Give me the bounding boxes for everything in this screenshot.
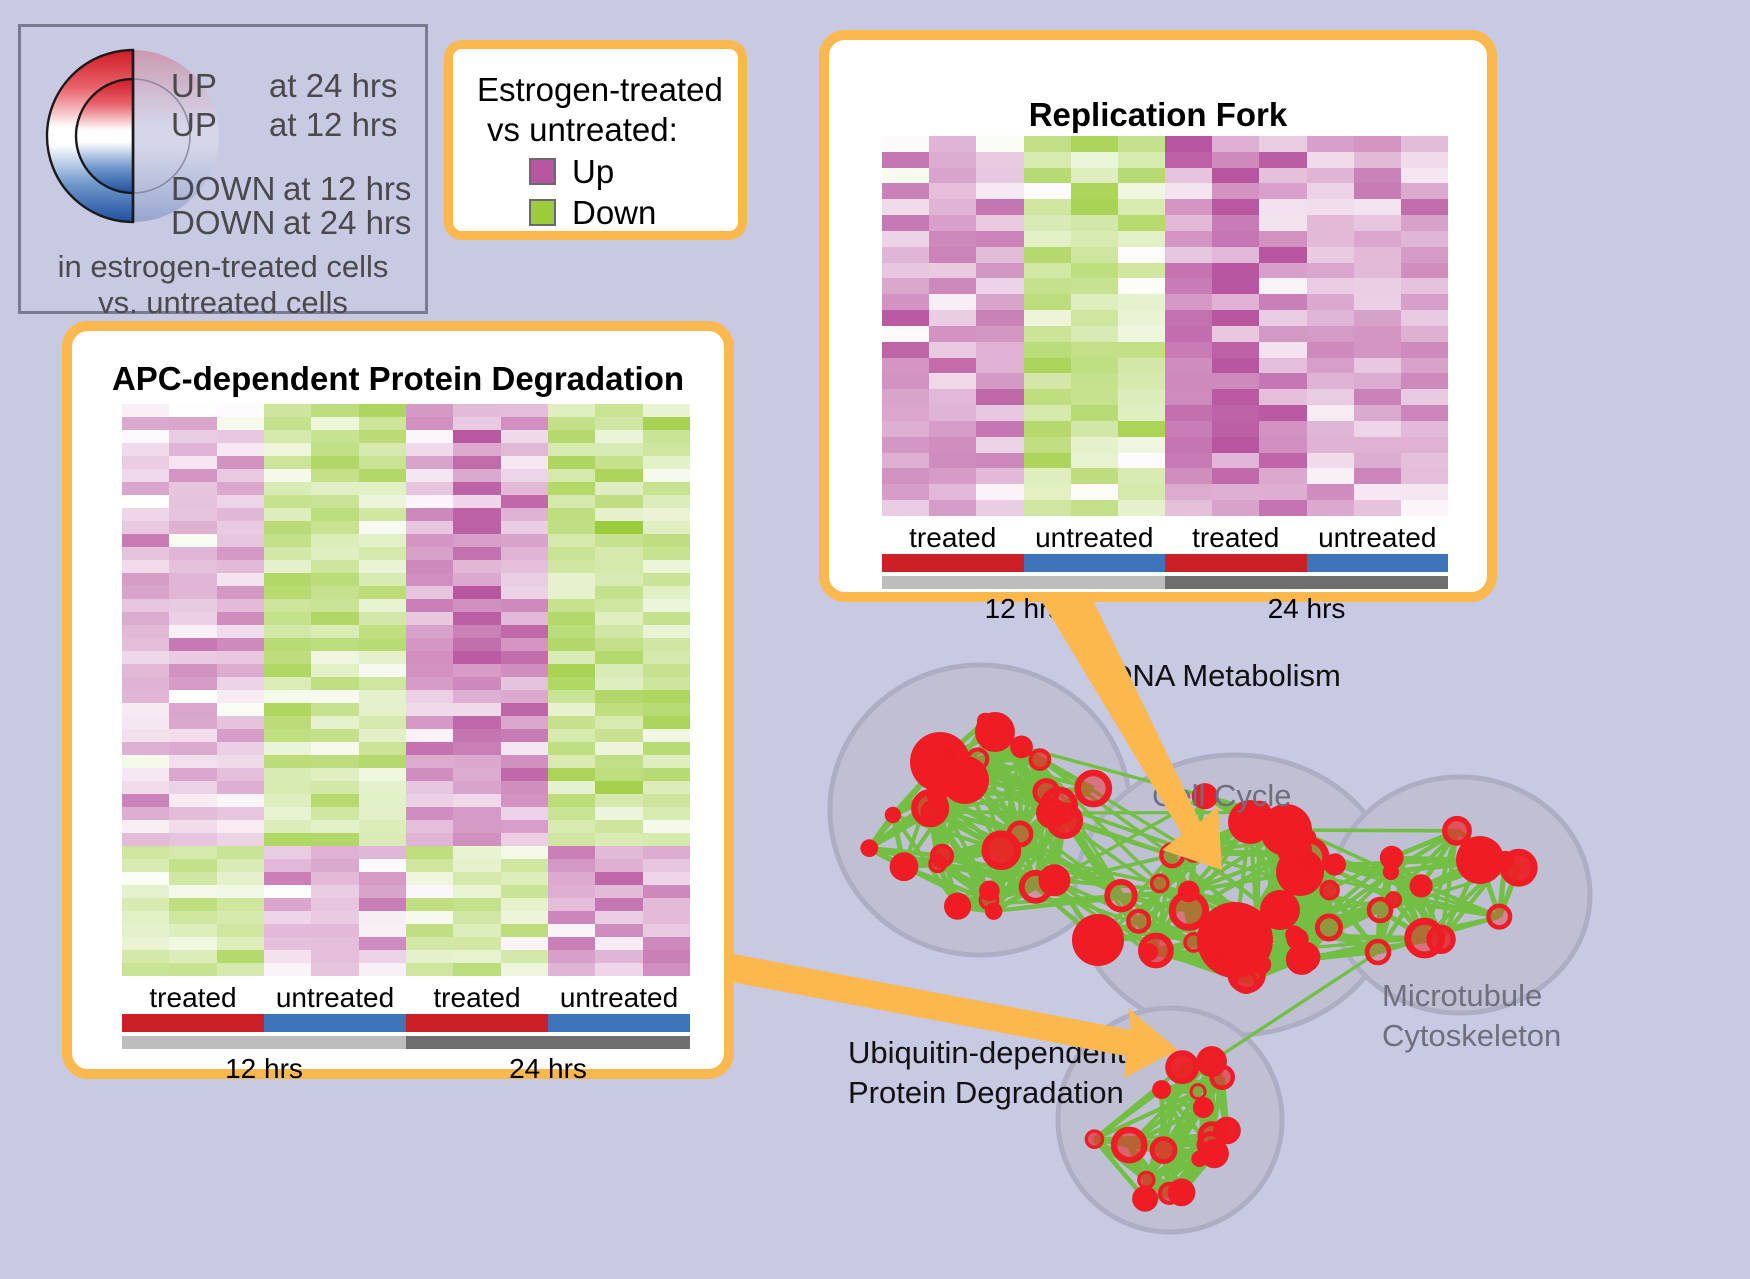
heatmap-cell: [643, 885, 690, 898]
heatmap-cell: [1212, 373, 1259, 389]
legend-caption-line2: vs. untreated cells: [21, 285, 425, 321]
heatmap-cell: [548, 469, 595, 482]
heatmap-cell: [122, 703, 169, 716]
apc-axis: treateduntreatedtreateduntreated 12 hrs2…: [122, 982, 690, 1085]
heatmap-cell: [122, 599, 169, 612]
heatmap-cell: [217, 703, 264, 716]
heatmap-cell: [501, 846, 548, 859]
panel-replication-fork-title: Replication Fork: [829, 96, 1487, 134]
legend-item-up: Up: [529, 155, 614, 188]
heatmap-cell: [1165, 500, 1212, 516]
heatmap-cell: [643, 690, 690, 703]
heatmap-cell: [1401, 152, 1448, 168]
heatmap-cell: [264, 807, 311, 820]
heatmap-cell: [643, 703, 690, 716]
heatmap-cell: [264, 768, 311, 781]
heatmap-cell: [501, 469, 548, 482]
heatmap-cell: [643, 820, 690, 833]
heatmap-cell: [643, 651, 690, 664]
heatmap-cell: [264, 456, 311, 469]
heatmap-cell: [1401, 468, 1448, 484]
network-node: [1321, 882, 1338, 899]
heatmap-cell: [1354, 405, 1401, 421]
apc-heatmap: [122, 404, 690, 976]
heatmap-cell: [501, 937, 548, 950]
heatmap-cell: [643, 833, 690, 846]
heatmap-cell: [453, 495, 500, 508]
heatmap-cell: [169, 599, 216, 612]
heatmap-cell: [501, 625, 548, 638]
legend-item-down-label: Down: [572, 196, 656, 229]
heatmap-cell: [501, 690, 548, 703]
heatmap-cell: [548, 781, 595, 794]
heatmap-cell: [122, 820, 169, 833]
heatmap-cell: [1354, 136, 1401, 152]
network-node: [985, 903, 1002, 920]
heatmap-cell: [882, 310, 929, 326]
heatmap-cell: [548, 846, 595, 859]
network-node: [1178, 881, 1200, 903]
network-node: [890, 852, 919, 881]
heatmap-cell: [548, 820, 595, 833]
network-node: [1380, 846, 1404, 870]
heatmap-cell: [1024, 199, 1071, 215]
heatmap-cell: [643, 586, 690, 599]
network-node: [1086, 1131, 1102, 1147]
heatmap-cell: [1401, 389, 1448, 405]
heatmap-cell: [1259, 342, 1306, 358]
heatmap-cell: [501, 508, 548, 521]
heatmap-cell: [217, 768, 264, 781]
network-node: [1289, 947, 1315, 973]
heatmap-cell: [976, 310, 1023, 326]
heatmap-cell: [453, 963, 500, 976]
heatmap-cell: [453, 612, 500, 625]
heatmap-cell: [1259, 405, 1306, 421]
heatmap-cell: [311, 950, 358, 963]
heatmap-cell: [453, 599, 500, 612]
heatmap-cell: [359, 612, 406, 625]
heatmap-cell: [1071, 168, 1118, 184]
heatmap-cell: [406, 430, 453, 443]
heatmap-cell: [1118, 484, 1165, 500]
heatmap-cell: [453, 716, 500, 729]
heatmap-cell: [311, 677, 358, 690]
heatmap-cell: [1118, 500, 1165, 516]
heatmap-cell: [1212, 358, 1259, 374]
heatmap-cell: [595, 521, 642, 534]
heatmap-cell: [406, 664, 453, 677]
heatmap-cell: [643, 469, 690, 482]
heatmap-cell: [882, 278, 929, 294]
heatmap-cell: [122, 768, 169, 781]
heatmap-cell: [1024, 168, 1071, 184]
heatmap-cell: [264, 508, 311, 521]
heatmap-cell: [406, 768, 453, 781]
heatmap-cell: [1118, 405, 1165, 421]
heatmap-cell: [217, 482, 264, 495]
heatmap-cell: [1212, 389, 1259, 405]
heatmap-cell: [501, 443, 548, 456]
heatmap-cell: [311, 833, 358, 846]
heatmap-cell: [264, 495, 311, 508]
heatmap-cell: [453, 937, 500, 950]
heatmap-cell: [406, 547, 453, 560]
heatmap-cell: [1354, 231, 1401, 247]
heatmap-cell: [406, 820, 453, 833]
heatmap-cell: [311, 469, 358, 482]
heatmap-cell: [1165, 453, 1212, 469]
network-svg: [780, 610, 1740, 1270]
heatmap-cell: [264, 404, 311, 417]
heatmap-cell: [311, 859, 358, 872]
heatmap-cell: [1071, 500, 1118, 516]
heatmap-cell: [1118, 294, 1165, 310]
heatmap-cell: [406, 924, 453, 937]
heatmap-cell: [169, 937, 216, 950]
heatmap-cell: [976, 326, 1023, 342]
heatmap-cell: [406, 781, 453, 794]
heatmap-cell: [311, 690, 358, 703]
heatmap-cell: [406, 495, 453, 508]
heatmap-cell: [548, 547, 595, 560]
legend-down-24-label: DOWN: [171, 204, 275, 242]
network-node: [968, 749, 987, 768]
heatmap-cell: [1024, 453, 1071, 469]
heatmap-cell: [643, 859, 690, 872]
heatmap-cell: [359, 807, 406, 820]
heatmap-cell: [264, 859, 311, 872]
heatmap-cell: [169, 586, 216, 599]
heatmap-cell: [453, 560, 500, 573]
heatmap-cell: [595, 937, 642, 950]
heatmap-cell: [1024, 326, 1071, 342]
time-color-bar: [406, 1036, 690, 1049]
network-node: [1078, 773, 1109, 804]
heatmap-cell: [217, 859, 264, 872]
heatmap-cell: [976, 437, 1023, 453]
heatmap-cell: [548, 755, 595, 768]
heatmap-cell: [1024, 373, 1071, 389]
heatmap-cell: [359, 404, 406, 417]
heatmap-cell: [359, 417, 406, 430]
heatmap-cell: [882, 183, 929, 199]
heatmap-cell: [595, 820, 642, 833]
heatmap-cell: [548, 794, 595, 807]
heatmap-cell: [976, 263, 1023, 279]
network-node: [1049, 805, 1080, 836]
heatmap-cell: [976, 468, 1023, 484]
heatmap-cell: [1165, 468, 1212, 484]
heatmap-cell: [406, 729, 453, 742]
heatmap-cell: [122, 742, 169, 755]
heatmap-cell: [643, 612, 690, 625]
heatmap-cell: [359, 508, 406, 521]
heatmap-cell: [643, 508, 690, 521]
heatmap-cell: [264, 586, 311, 599]
heatmap-cell: [359, 716, 406, 729]
heatmap-cell: [643, 430, 690, 443]
heatmap-cell: [929, 405, 976, 421]
heatmap-cell: [264, 872, 311, 885]
heatmap-cell: [595, 404, 642, 417]
heatmap-cell: [217, 781, 264, 794]
heatmap-cell: [548, 885, 595, 898]
network-node: [940, 747, 957, 764]
heatmap-cell: [1024, 468, 1071, 484]
heatmap-cell: [643, 794, 690, 807]
heatmap-cell: [1259, 215, 1306, 231]
heatmap-cell: [1259, 231, 1306, 247]
heatmap-cell: [217, 625, 264, 638]
heatmap-cell: [359, 898, 406, 911]
heatmap-cell: [311, 872, 358, 885]
network-node: [1168, 1179, 1196, 1207]
heatmap-cell: [169, 885, 216, 898]
legend-title-line2: vs untreated:: [487, 111, 678, 149]
heatmap-cell: [406, 963, 453, 976]
heatmap-cell: [929, 183, 976, 199]
heatmap-cell: [595, 872, 642, 885]
heatmap-cell: [311, 430, 358, 443]
heatmap-cell: [217, 443, 264, 456]
heatmap-cell: [453, 677, 500, 690]
heatmap-cell: [406, 586, 453, 599]
heatmap-cell: [217, 664, 264, 677]
legend-caption-line1: in estrogen-treated cells: [21, 249, 425, 285]
heatmap-cell: [1024, 247, 1071, 263]
network-node: [860, 839, 878, 857]
heatmap-cell: [501, 911, 548, 924]
heatmap-cell: [1024, 389, 1071, 405]
heatmap-cell: [406, 950, 453, 963]
heatmap-cell: [1071, 468, 1118, 484]
heatmap-cell: [264, 547, 311, 560]
heatmap-cell: [548, 573, 595, 586]
up-down-legend: Estrogen-treated vs untreated: Up Down: [444, 40, 747, 240]
heatmap-cell: [217, 898, 264, 911]
heatmap-cell: [1259, 484, 1306, 500]
heatmap-cell: [122, 651, 169, 664]
heatmap-cell: [169, 703, 216, 716]
heatmap-cell: [1165, 405, 1212, 421]
heatmap-cell: [217, 820, 264, 833]
heatmap-cell: [595, 495, 642, 508]
heatmap-cell: [643, 677, 690, 690]
heatmap-cell: [311, 794, 358, 807]
heatmap-cell: [122, 794, 169, 807]
heatmap-cell: [1259, 437, 1306, 453]
heatmap-cell: [359, 729, 406, 742]
heatmap-cell: [311, 625, 358, 638]
heatmap-cell: [501, 807, 548, 820]
heatmap-cell: [501, 560, 548, 573]
heatmap-cell: [1354, 247, 1401, 263]
heatmap-cell: [264, 716, 311, 729]
heatmap-cell: [1401, 500, 1448, 516]
heatmap-cell: [1307, 199, 1354, 215]
heatmap-cell: [643, 768, 690, 781]
heatmap-cell: [406, 833, 453, 846]
heatmap-cell: [1165, 152, 1212, 168]
heatmap-cell: [1118, 168, 1165, 184]
heatmap-cell: [406, 534, 453, 547]
heatmap-cell: [169, 625, 216, 638]
heatmap-cell: [1024, 278, 1071, 294]
heatmap-cell: [169, 911, 216, 924]
heatmap-cell: [359, 885, 406, 898]
heatmap-cell: [882, 389, 929, 405]
heatmap-cell: [548, 768, 595, 781]
heatmap-cell: [169, 924, 216, 937]
heatmap-cell: [359, 820, 406, 833]
heatmap-cell: [501, 820, 548, 833]
heatmap-cell: [1354, 421, 1401, 437]
network-node: [1429, 927, 1453, 951]
heatmap-cell: [359, 781, 406, 794]
heatmap-cell: [217, 469, 264, 482]
heatmap-cell: [548, 937, 595, 950]
heatmap-cell: [643, 456, 690, 469]
heatmap-cell: [311, 456, 358, 469]
heatmap-cell: [548, 963, 595, 976]
network-node: [1213, 946, 1232, 965]
heatmap-cell: [1212, 215, 1259, 231]
heatmap-cell: [217, 924, 264, 937]
heatmap-cell: [122, 443, 169, 456]
heatmap-cell: [1165, 484, 1212, 500]
heatmap-cell: [217, 404, 264, 417]
heatmap-cell: [169, 469, 216, 482]
group-color-bar: [1024, 554, 1166, 572]
heatmap-cell: [976, 358, 1023, 374]
network-node: [1369, 899, 1391, 921]
heatmap-cell: [1354, 484, 1401, 500]
heatmap-cell: [548, 482, 595, 495]
group-color-bar: [1307, 554, 1449, 572]
heatmap-cell: [929, 326, 976, 342]
heatmap-cell: [217, 651, 264, 664]
heatmap-cell: [548, 872, 595, 885]
network-node: [1009, 823, 1031, 845]
network-node: [1231, 958, 1263, 990]
heatmap-cell: [122, 560, 169, 573]
heatmap-cell: [406, 742, 453, 755]
heatmap-cell: [217, 456, 264, 469]
heatmap-cell: [169, 742, 216, 755]
heatmap-cell: [501, 898, 548, 911]
heatmap-cell: [643, 872, 690, 885]
network-node: [1496, 851, 1515, 870]
heatmap-cell: [643, 924, 690, 937]
heatmap-cell: [643, 937, 690, 950]
heatmap-cell: [595, 781, 642, 794]
heatmap-cell: [595, 677, 642, 690]
network-edge: [932, 812, 1051, 813]
heatmap-cell: [311, 547, 358, 560]
heatmap-cell: [1307, 373, 1354, 389]
heatmap-cell: [1307, 278, 1354, 294]
heatmap-cell: [1259, 389, 1306, 405]
heatmap-cell: [501, 794, 548, 807]
heatmap-cell: [548, 599, 595, 612]
network-node: [1183, 842, 1204, 863]
heatmap-cell: [1024, 484, 1071, 500]
heatmap-cell: [1354, 468, 1401, 484]
heatmap-cell: [643, 755, 690, 768]
group-color-bar: [548, 1014, 690, 1032]
heatmap-cell: [595, 612, 642, 625]
group-label: treated: [122, 982, 264, 1014]
network-node: [1324, 853, 1346, 875]
heatmap-cell: [1024, 342, 1071, 358]
heatmap-cell: [264, 534, 311, 547]
heatmap-cell: [548, 586, 595, 599]
heatmap-cell: [169, 664, 216, 677]
heatmap-cell: [1165, 421, 1212, 437]
heatmap-cell: [548, 716, 595, 729]
heatmap-cell: [122, 677, 169, 690]
heatmap-cell: [929, 437, 976, 453]
heatmap-cell: [1354, 215, 1401, 231]
heatmap-cell: [359, 742, 406, 755]
heatmap-cell: [1401, 183, 1448, 199]
heatmap-cell: [453, 690, 500, 703]
heatmap-cell: [1259, 326, 1306, 342]
heatmap-cell: [1259, 500, 1306, 516]
heatmap-cell: [501, 833, 548, 846]
heatmap-cell: [882, 247, 929, 263]
heatmap-cell: [1401, 310, 1448, 326]
heatmap-cell: [929, 247, 976, 263]
heatmap-cell: [453, 404, 500, 417]
network-node: [1193, 1097, 1214, 1118]
heatmap-cell: [453, 638, 500, 651]
heatmap-cell: [264, 690, 311, 703]
heatmap-cell: [1118, 453, 1165, 469]
heatmap-cell: [929, 389, 976, 405]
replication-fork-group-bars: [882, 554, 1448, 572]
heatmap-cell: [548, 456, 595, 469]
heatmap-cell: [406, 638, 453, 651]
heatmap-cell: [406, 469, 453, 482]
heatmap-cell: [548, 560, 595, 573]
heatmap-cell: [548, 638, 595, 651]
time-color-bar: [122, 1036, 406, 1049]
heatmap-cell: [359, 794, 406, 807]
time-label: 12 hrs: [122, 1053, 406, 1085]
heatmap-cell: [1259, 310, 1306, 326]
heatmap-cell: [217, 729, 264, 742]
heatmap-cell: [311, 638, 358, 651]
heatmap-cell: [1354, 500, 1401, 516]
network-node: [1285, 926, 1303, 944]
heatmap-cell: [311, 911, 358, 924]
heatmap-cell: [122, 807, 169, 820]
heatmap-cell: [1212, 421, 1259, 437]
heatmap-cell: [643, 846, 690, 859]
heatmap-cell: [882, 326, 929, 342]
cluster-label-cell-cycle: Cell Cycle: [1152, 778, 1292, 814]
network-node: [1367, 941, 1389, 963]
heatmap-cell: [1307, 136, 1354, 152]
heatmap-cell: [406, 443, 453, 456]
heatmap-cell: [1401, 342, 1448, 358]
heatmap-cell: [264, 885, 311, 898]
heatmap-cell: [311, 924, 358, 937]
heatmap-cell: [882, 263, 929, 279]
heatmap-cell: [595, 430, 642, 443]
